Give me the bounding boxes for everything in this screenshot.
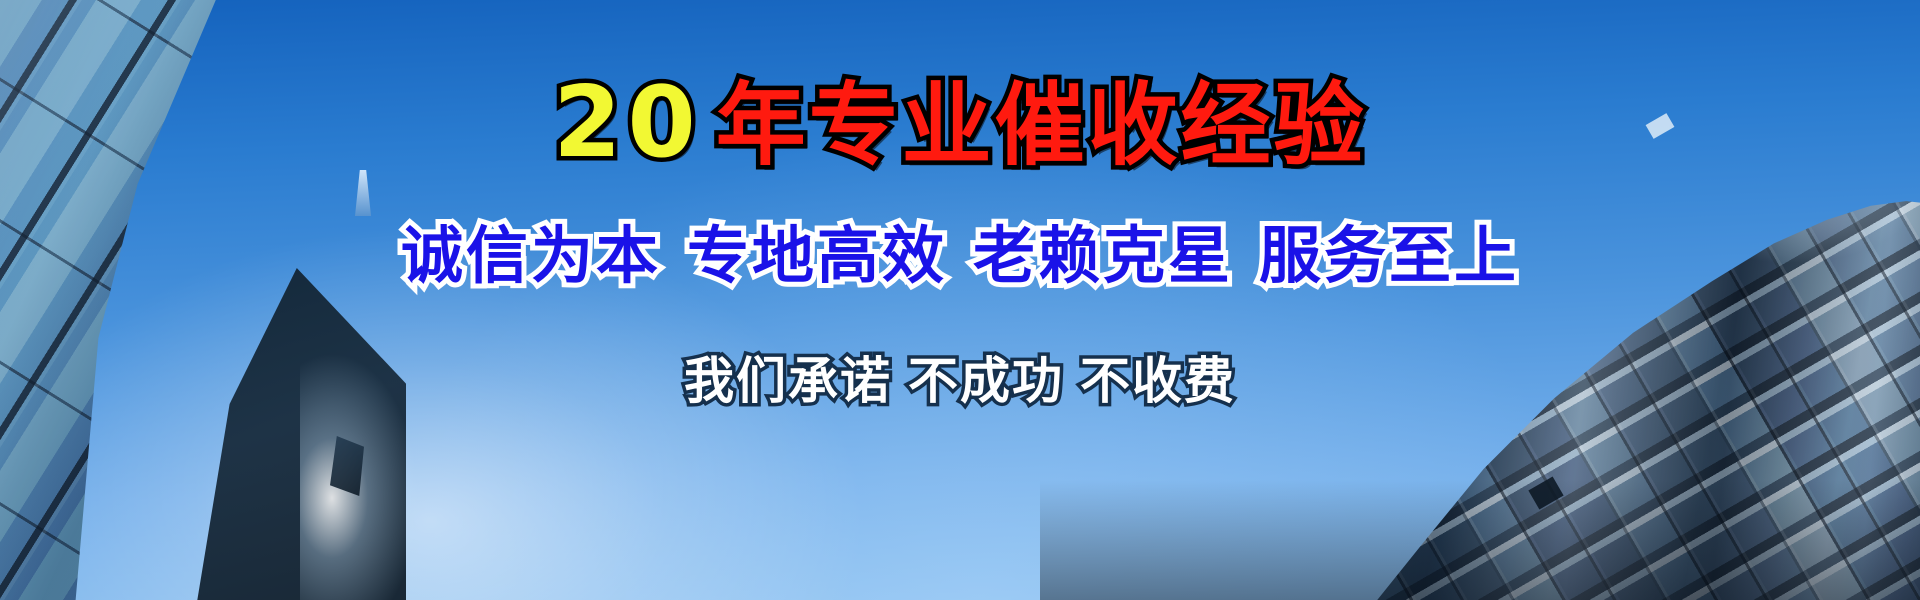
slogan-part-4: 服务至上 xyxy=(1259,219,1519,292)
headline: 20年专业催收经验 xyxy=(553,72,1366,175)
promise-line: 我们承诺不成功不收费 xyxy=(684,341,1236,413)
slogan-part-2: 专地高效 xyxy=(687,219,947,292)
slogan-part-3: 老赖克星 xyxy=(973,219,1233,292)
banner-text-stack: 20年专业催收经验 诚信为本专地高效老赖克星服务至上 我们承诺不成功不收费 xyxy=(0,0,1920,600)
promise-part-1: 我们承诺 xyxy=(684,352,892,410)
promise-part-2: 不成功 xyxy=(908,352,1064,410)
slogan-line: 诚信为本专地高效老赖克星服务至上 xyxy=(401,205,1519,295)
promo-banner: 20年专业催收经验 诚信为本专地高效老赖克星服务至上 我们承诺不成功不收费 xyxy=(0,0,1920,600)
headline-years-number: 20 xyxy=(553,72,715,175)
promise-part-3: 不收费 xyxy=(1080,352,1236,410)
slogan-part-1: 诚信为本 xyxy=(401,219,661,292)
headline-main-text: 年专业催收经验 xyxy=(716,79,1367,174)
